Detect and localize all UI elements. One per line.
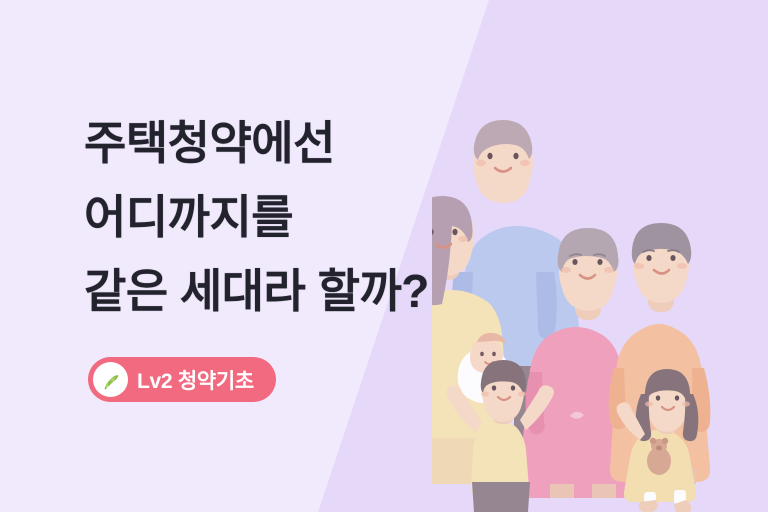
headline-line-3: 같은 세대라 할까?	[84, 254, 564, 328]
headline-line-2: 어디까지를	[84, 180, 564, 254]
headline: 주택청약에선 어디까지를 같은 세대라 할까?	[84, 106, 564, 328]
level-badge[interactable]: Lv2 청약기초	[88, 357, 276, 402]
card-banner: 주택청약에선 어디까지를 같은 세대라 할까? Lv2 청약기초	[0, 0, 768, 512]
headline-line-1: 주택청약에선	[84, 106, 564, 180]
sprout-leaf-icon	[93, 362, 128, 397]
level-badge-label: Lv2 청약기초	[137, 365, 254, 395]
